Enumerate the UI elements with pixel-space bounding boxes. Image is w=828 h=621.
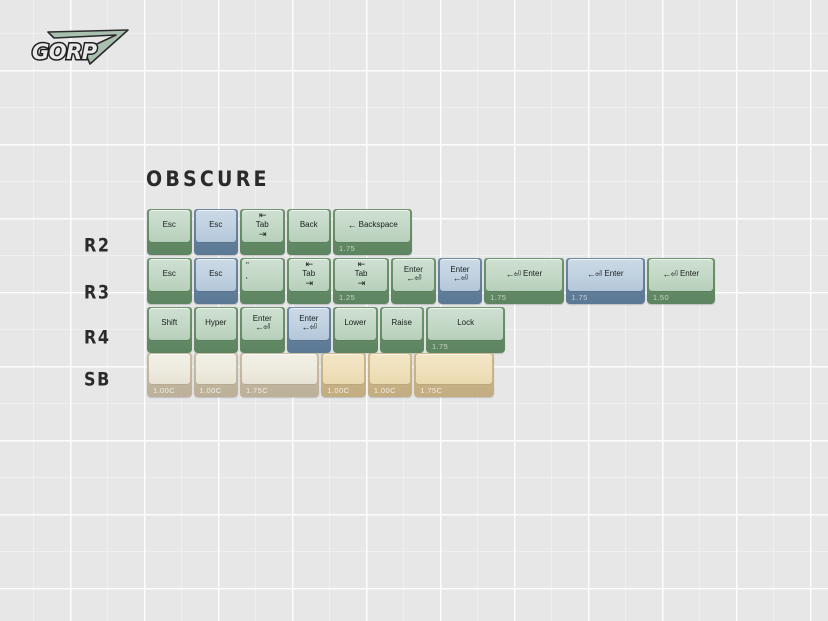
keycap-top-surface [486, 259, 561, 291]
keycap-size-label: 1.75 [572, 293, 588, 302]
keycap-top-surface [289, 259, 330, 291]
keycap-top-surface [196, 210, 237, 242]
key-lower[interactable]: Lower [333, 307, 378, 353]
keycap-top-surface [335, 259, 387, 291]
key-enter-blue[interactable]: Enter←⏎ [438, 258, 483, 304]
keycap-top-surface [649, 259, 713, 291]
keycap-size-label: 1.75C [420, 386, 442, 395]
key-space-1-00c-cream-b[interactable]: 1.00C [194, 353, 239, 397]
key-enter-blue[interactable]: Enter←⏎ [287, 307, 332, 353]
keycap-top-surface [382, 308, 423, 340]
keycap-size-label: 1.75 [432, 342, 448, 351]
gorp-logo: GORP [24, 24, 140, 72]
key-tab[interactable]: ⇤Tab⇥ [287, 258, 332, 304]
keycap-top-surface [149, 210, 190, 242]
keycap-top-surface [289, 308, 330, 340]
keycap-top-surface [335, 210, 410, 242]
row-label-r3: R3 [84, 281, 111, 303]
key-enter-green[interactable]: Enter←⏎ [391, 258, 436, 304]
row-label-r4: R4 [84, 326, 111, 348]
key-space-1-00c-cream-a[interactable]: 1.00C [147, 353, 192, 397]
key-esc-green[interactable]: Esc [147, 258, 192, 304]
key-lock-1-75[interactable]: Lock1.75 [426, 307, 505, 353]
keycap-top-surface [149, 259, 190, 291]
keycap-top-surface [568, 259, 643, 291]
keycap-top-surface [196, 354, 237, 384]
page-title: OBSCURE [146, 167, 270, 192]
key-tab-1-25[interactable]: ⇤Tab⇥1.25 [333, 258, 389, 304]
key-back[interactable]: Back [287, 209, 332, 255]
key-shift[interactable]: Shift [147, 307, 192, 353]
keycap-top-surface [242, 308, 283, 340]
key-quote[interactable]: "' [240, 258, 285, 304]
keycap-top-surface [416, 354, 491, 384]
keycap-size-label: 1.75 [490, 293, 506, 302]
row-label-sb: SB [84, 368, 111, 390]
keycap-top-surface [242, 354, 317, 384]
key-space-1-00c-beige-a[interactable]: 1.00C [321, 353, 366, 397]
key-enter-1-75-blue[interactable]: ←⏎Enter1.75 [566, 258, 645, 304]
key-backspace-1-75[interactable]: ←Backspace1.75 [333, 209, 412, 255]
keycap-size-label: 1.00C [327, 386, 349, 395]
keycap-top-surface [393, 259, 434, 291]
lightning-swoosh-icon: GORP [24, 24, 140, 72]
keycap-top-surface [335, 308, 376, 340]
keycap-size-label: 1.00C [374, 386, 396, 395]
key-raise[interactable]: Raise [380, 307, 425, 353]
key-space-1-00c-beige-b[interactable]: 1.00C [368, 353, 413, 397]
key-enter-1-75-green[interactable]: ←⏎Enter1.75 [484, 258, 563, 304]
keycap-top-surface [289, 210, 330, 242]
keycap-top-surface [242, 259, 283, 291]
keycap-size-label: 1.50 [653, 293, 669, 302]
keycap-top-surface [196, 308, 237, 340]
key-esc-green[interactable]: Esc [147, 209, 192, 255]
key-tab[interactable]: ⇤Tab⇥ [240, 209, 285, 255]
key-esc-blue[interactable]: Esc [194, 258, 239, 304]
logo-wordmark: GORP [32, 40, 98, 64]
row-label-r2: R2 [84, 234, 111, 256]
keycap-top-surface [242, 210, 283, 242]
key-space-1-75c-beige[interactable]: 1.75C [414, 353, 493, 397]
keycap-top-surface [196, 259, 237, 291]
keycap-size-label: 1.75C [246, 386, 268, 395]
keycap-size-label: 1.75 [339, 244, 355, 253]
keycap-size-label: 1.00C [153, 386, 175, 395]
keycap-size-label: 1.25 [339, 293, 355, 302]
key-enter-green[interactable]: Enter←⏎ [240, 307, 285, 353]
key-hyper[interactable]: Hyper [194, 307, 239, 353]
keycap-top-surface [149, 354, 190, 384]
key-esc-blue[interactable]: Esc [194, 209, 239, 255]
key-space-1-75c-cream[interactable]: 1.75C [240, 353, 319, 397]
keycap-top-surface [370, 354, 411, 384]
keycap-top-surface [428, 308, 503, 340]
keycap-top-surface [149, 308, 190, 340]
keycap-top-surface [440, 259, 481, 291]
key-enter-1-50-green[interactable]: ←⏎Enter1.50 [647, 258, 715, 304]
keycap-top-surface [323, 354, 364, 384]
keycap-size-label: 1.00C [200, 386, 222, 395]
